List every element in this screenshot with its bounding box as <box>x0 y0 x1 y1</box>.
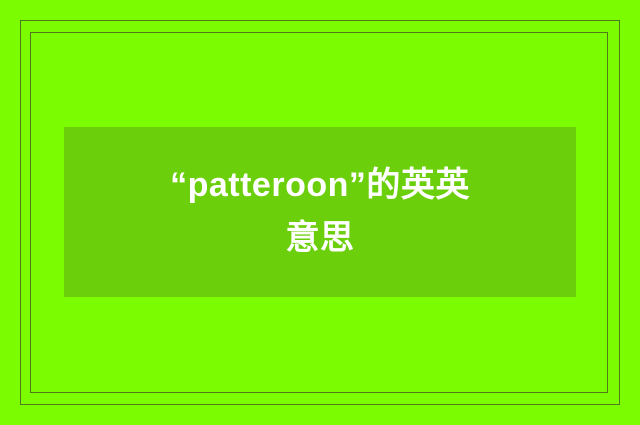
title-panel: “patteroon”的英英意思 <box>64 127 576 297</box>
page-title: “patteroon”的英英意思 <box>160 159 480 264</box>
poster-canvas: “patteroon”的英英意思 <box>0 0 640 425</box>
